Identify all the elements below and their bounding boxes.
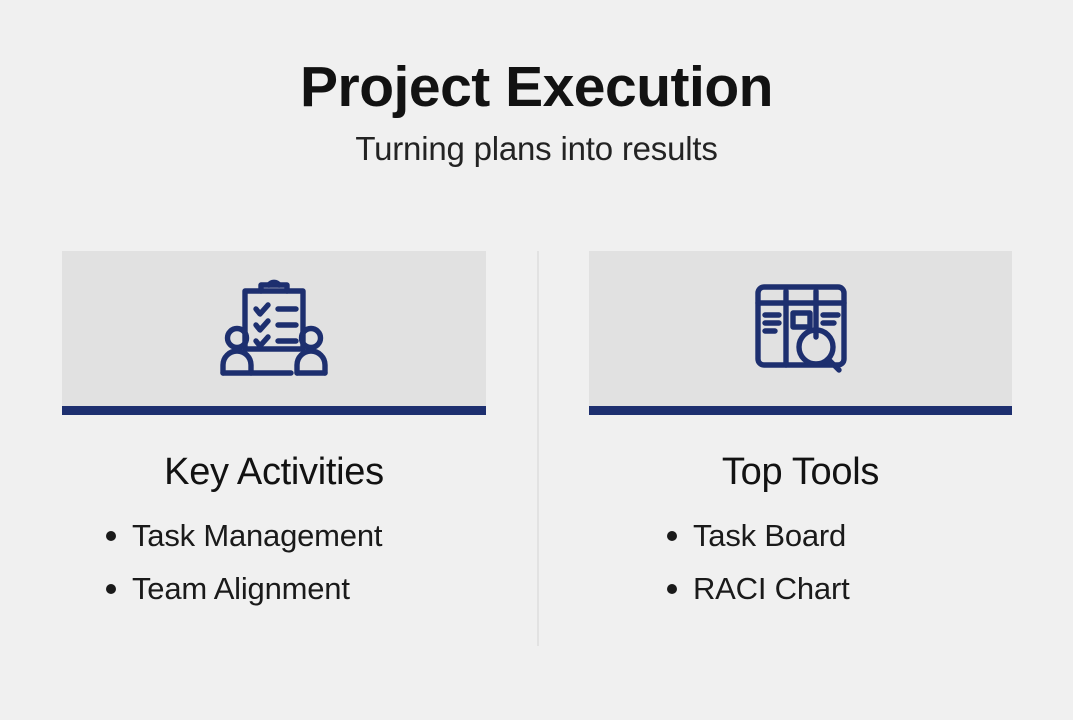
bullet-list-key-activities: Task Management Team Alignment	[62, 520, 486, 604]
page-title: Project Execution	[0, 58, 1073, 118]
list-item-label: RACI Chart	[693, 573, 849, 604]
list-item-label: Task Management	[132, 520, 382, 551]
bullet-dot-icon	[106, 531, 116, 541]
kanban-board-search-icon	[746, 277, 856, 381]
accent-bar-key-activities	[62, 406, 486, 415]
column-heading-top-tools: Top Tools	[589, 452, 1012, 494]
bullet-dot-icon	[106, 584, 116, 594]
slide-header: Project Execution Turning plans into res…	[0, 58, 1073, 167]
bullet-dot-icon	[667, 584, 677, 594]
list-item: Task Management	[106, 520, 486, 551]
column-divider	[537, 251, 539, 646]
list-item-label: Task Board	[693, 520, 846, 551]
bullet-dot-icon	[667, 531, 677, 541]
list-item: RACI Chart	[667, 573, 1012, 604]
slide: Project Execution Turning plans into res…	[0, 0, 1073, 720]
clipboard-checklist-people-icon	[219, 277, 329, 381]
column-heading-key-activities: Key Activities	[62, 452, 486, 494]
bullet-list-top-tools: Task Board RACI Chart	[589, 520, 1012, 604]
column-key-activities: Key Activities Task Management Team Alig…	[62, 251, 486, 626]
page-subtitle: Turning plans into results	[0, 131, 1073, 167]
accent-bar-top-tools	[589, 406, 1012, 415]
list-item-label: Team Alignment	[132, 573, 350, 604]
list-item: Team Alignment	[106, 573, 486, 604]
icon-card-key-activities	[62, 251, 486, 406]
icon-card-top-tools	[589, 251, 1012, 406]
column-top-tools: Top Tools Task Board RACI Chart	[589, 251, 1012, 626]
list-item: Task Board	[667, 520, 1012, 551]
